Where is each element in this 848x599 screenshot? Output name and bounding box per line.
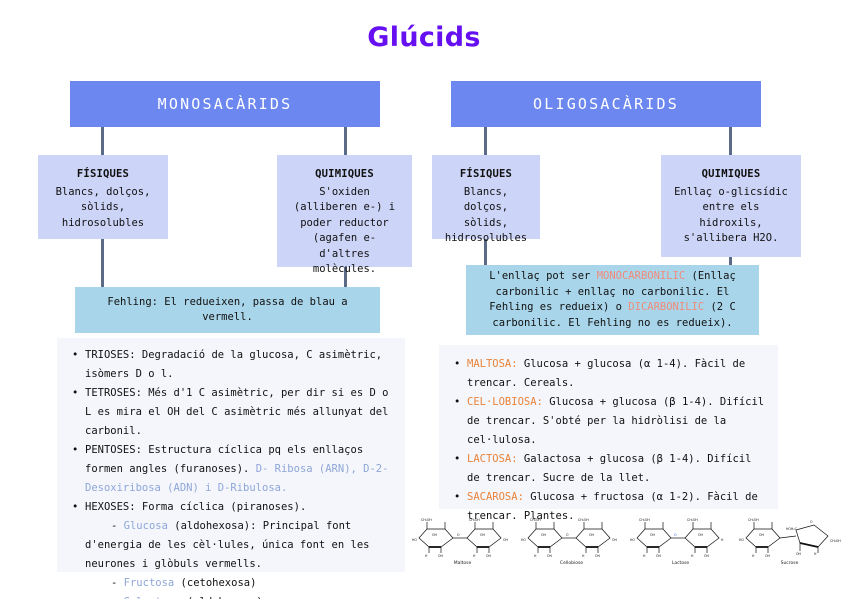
box-oligo-quimiques: QUIMIQUES Enllaç o-glicsídic entre els h… <box>661 155 801 257</box>
svg-text:OH: OH <box>612 538 618 542</box>
svg-text:OH: OH <box>541 533 547 537</box>
box-mono-quimiques: QUIMIQUES S'oxiden (alliberen e-) i pode… <box>277 155 412 267</box>
list-item-trioses: TRIOSES: Degradació de la glucosa, C asi… <box>85 346 395 384</box>
infographic-page: Glúcids MONOSACÀRIDS OLIGOSACÀRIDS FÍSIQ… <box>0 0 848 599</box>
enllac-dicarbonilic: DICARBONILIC <box>628 301 704 313</box>
svg-text:OH: OH <box>547 554 553 558</box>
cellobiose-label: Cellobiose <box>519 561 624 566</box>
list-item-tetroses: TETROSES: Més d'1 C asimètric, per dir s… <box>85 384 395 441</box>
svg-text:CH₂OH: CH₂OH <box>748 518 759 522</box>
svg-text:HOH₂C: HOH₂C <box>786 527 798 531</box>
svg-text:CH₂OH: CH₂OH <box>830 539 841 543</box>
svg-text:O: O <box>674 533 677 537</box>
panel-oligosacarids-details: MALTOSA: Glucosa + glucosa (α 1-4). Fàci… <box>439 345 778 509</box>
oligosacarids-list: MALTOSA: Glucosa + glucosa (α 1-4). Fàci… <box>443 355 768 526</box>
chem-figure-maltose: CH₂OHCH₂OH HOOH HOH HOH OHOH O Maltose <box>410 516 515 566</box>
sucrose-label: Sucrose <box>737 561 842 566</box>
header-oligosacarids-label: OLIGOSACÀRIDS <box>533 95 679 113</box>
svg-text:O: O <box>810 520 813 524</box>
box-enllac: L'enllaç pot ser MONOCARBONILIC (Enllaç … <box>466 265 759 335</box>
svg-text:O: O <box>566 533 569 537</box>
svg-text:H: H <box>691 554 694 558</box>
box-enllac-text: L'enllaç pot ser MONOCARBONILIC (Enllaç … <box>476 269 749 331</box>
svg-text:H: H <box>534 554 537 558</box>
svg-text:OH: OH <box>765 554 771 558</box>
enllac-monocarbonilic: MONOCARBONILIC <box>597 270 686 282</box>
list-item-lactosa: LACTOSA: Galactosa + glucosa (β 1-4). Di… <box>467 450 768 488</box>
chem-figure-cellobiose: CH₂OHCH₂OH HOOH HOH HOH OHOH O Cellobios… <box>519 516 624 566</box>
lactosa-term: LACTOSA: <box>467 453 524 465</box>
svg-text:CH₂OH: CH₂OH <box>578 518 589 522</box>
page-title: Glúcids <box>0 22 848 53</box>
svg-text:HO: HO <box>739 538 744 542</box>
hexoses-sub-glucosa: - Glucosa (aldohexosa): Principal font d… <box>85 517 395 574</box>
svg-text:OH: OH <box>486 554 492 558</box>
connector-mono-fisiques-fehling <box>101 239 104 288</box>
lactose-label: Lactose <box>628 561 733 566</box>
svg-text:OH: OH <box>796 552 802 556</box>
fructosa-name: Fructosa <box>124 577 175 589</box>
hexoses-sub-galactosa: - Galactosa (aldohexosa) <box>85 593 395 599</box>
pentoses-term: PENTOSES: <box>85 444 148 456</box>
monosacarids-list: TRIOSES: Degradació de la glucosa, C asi… <box>61 346 395 599</box>
svg-text:OH: OH <box>698 533 704 537</box>
svg-text:CH₂OH: CH₂OH <box>530 518 541 522</box>
hexoses-sub-fructosa: - Fructosa (cetohexosa) <box>85 574 395 593</box>
svg-text:H: H <box>752 554 755 558</box>
box-oligo-quimiques-heading: QUIMIQUES <box>669 167 793 183</box>
svg-text:OH: OH <box>432 533 438 537</box>
svg-text:H: H <box>721 538 724 542</box>
chem-figure-sucrose: CH₂OH HO HOH OH HOH₂C OHH CH₂OH O Sucros… <box>737 516 842 566</box>
fructosa-dash: - <box>111 577 124 589</box>
list-item-pentoses: PENTOSES: Estructura cíclica pq els enll… <box>85 441 395 498</box>
svg-text:OH: OH <box>595 554 601 558</box>
svg-text:OH: OH <box>650 533 656 537</box>
list-item-maltosa: MALTOSA: Glucosa + glucosa (α 1-4). Fàci… <box>467 355 768 393</box>
svg-text:H: H <box>814 552 817 556</box>
svg-text:HO: HO <box>521 538 526 542</box>
svg-text:H: H <box>473 554 476 558</box>
box-oligo-fisiques-body: Blancs, dolços, sòlids, hidrosolubles <box>445 186 527 245</box>
svg-text:H: H <box>643 554 646 558</box>
header-monosacarids-label: MONOSACÀRIDS <box>158 95 293 113</box>
svg-text:CH₂OH: CH₂OH <box>687 518 698 522</box>
chemical-structures-strip: CH₂OHCH₂OH HOOH HOH HOH OHOH O Maltose <box>410 516 842 582</box>
cellobiose-structure-icon: CH₂OHCH₂OH HOOH HOH HOH OHOH O <box>520 516 624 560</box>
svg-text:CH₂OH: CH₂OH <box>639 518 650 522</box>
svg-text:OH: OH <box>589 533 595 537</box>
chem-figure-lactose: CH₂OHCH₂OH HOH HOH HOH OHOH O Lactose <box>628 516 733 566</box>
sacarosa-term: SACAROSA: <box>467 491 530 503</box>
box-mono-quimiques-heading: QUIMIQUES <box>285 167 404 183</box>
svg-text:OH: OH <box>503 538 509 542</box>
box-fehling: Fehling: El redueixen, passa de blau a v… <box>75 287 380 333</box>
svg-text:HO: HO <box>412 538 417 542</box>
svg-text:OH: OH <box>480 533 486 537</box>
header-monosacarids: MONOSACÀRIDS <box>70 81 380 127</box>
hexoses-text: Forma cíclica (piranoses). <box>142 501 306 513</box>
list-item-hexoses: HEXOSES: Forma cíclica (piranoses). - Gl… <box>85 498 395 599</box>
glucosa-name: Glucosa <box>124 520 168 532</box>
connector-oligo-fisiques <box>484 127 487 156</box>
svg-text:OH: OH <box>438 554 444 558</box>
svg-text:O: O <box>457 533 460 537</box>
box-mono-fisiques-body: Blancs, dolços, sòlids, hidrosolubles <box>56 186 151 229</box>
box-mono-fisiques: FÍSIQUES Blancs, dolços, sòlids, hidroso… <box>38 155 168 239</box>
connector-oligo-quimiques <box>729 127 732 156</box>
box-oligo-fisiques: FÍSIQUES Blancs, dolços, sòlids, hidroso… <box>432 155 540 239</box>
cellobiosa-term: CEL·LOBIOSA: <box>467 396 549 408</box>
panel-monosacarids-details: TRIOSES: Degradació de la glucosa, C asi… <box>57 338 405 572</box>
maltose-label: Maltose <box>410 561 515 566</box>
svg-text:CH₂OH: CH₂OH <box>469 518 480 522</box>
glucosa-dash: - <box>111 520 124 532</box>
box-fehling-text: Fehling: El redueixen, passa de blau a v… <box>85 295 370 326</box>
box-oligo-quimiques-body: Enllaç o-glicsídic entre els hidroxils, … <box>674 186 788 245</box>
maltose-structure-icon: CH₂OHCH₂OH HOOH HOH HOH OHOH O <box>411 516 515 560</box>
tetroses-term: TETROSES: <box>85 387 148 399</box>
lactose-structure-icon: CH₂OHCH₂OH HOH HOH HOH OHOH O <box>629 516 733 560</box>
svg-text:CH₂OH: CH₂OH <box>421 518 432 522</box>
svg-text:H: H <box>582 554 585 558</box>
enllac-part1: L'enllaç pot ser <box>489 270 596 282</box>
fructosa-text: (cetohexosa) <box>174 577 256 589</box>
hexoses-term: HEXOSES: <box>85 501 142 513</box>
trioses-term: TRIOSES: <box>85 349 142 361</box>
box-mono-fisiques-heading: FÍSIQUES <box>46 167 160 183</box>
box-oligo-fisiques-heading: FÍSIQUES <box>440 167 532 183</box>
maltosa-term: MALTOSA: <box>467 358 524 370</box>
svg-text:OH: OH <box>759 533 765 537</box>
list-item-cellobiosa: CEL·LOBIOSA: Glucosa + glucosa (β 1-4). … <box>467 393 768 450</box>
sucrose-structure-icon: CH₂OH HO HOH OH HOH₂C OHH CH₂OH O <box>738 516 842 560</box>
connector-mono-quimiques <box>344 127 347 156</box>
svg-text:H: H <box>425 554 428 558</box>
box-mono-quimiques-body: S'oxiden (alliberen e-) i poder reductor… <box>294 186 395 276</box>
svg-text:OH: OH <box>704 554 710 558</box>
connector-mono-fisiques <box>101 127 104 156</box>
header-oligosacarids: OLIGOSACÀRIDS <box>451 81 761 127</box>
svg-text:OH: OH <box>656 554 662 558</box>
svg-text:HO: HO <box>630 538 635 542</box>
